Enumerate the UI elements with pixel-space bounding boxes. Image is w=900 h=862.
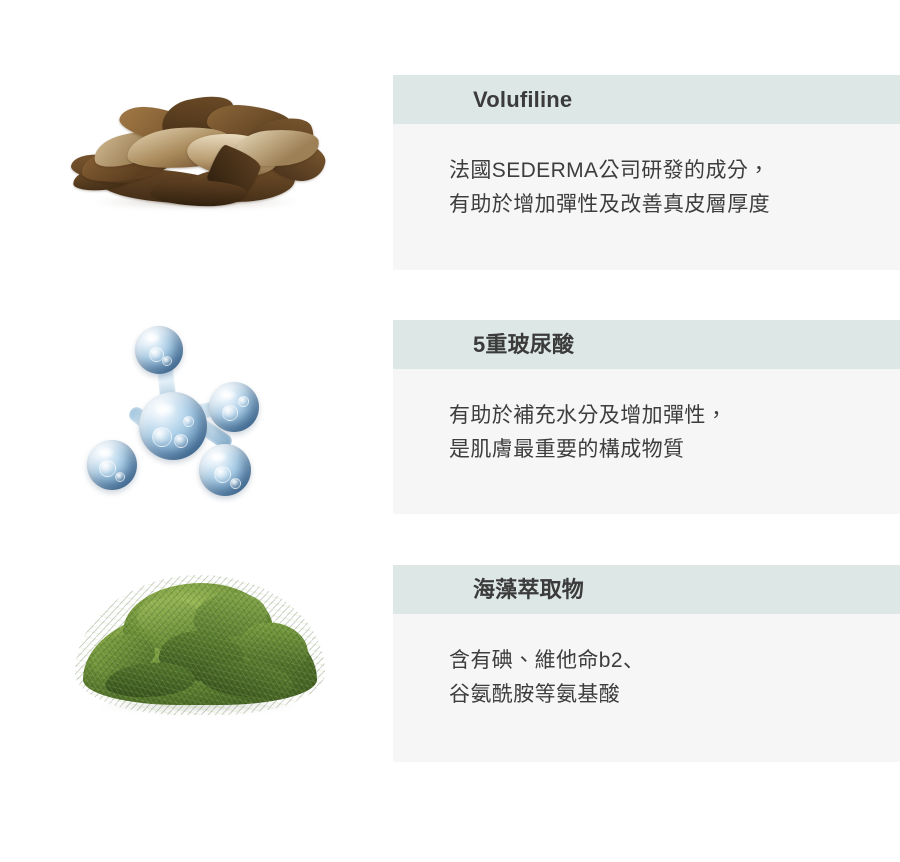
water-molecule-image (81, 322, 267, 510)
description-line: 有助於補充水分及增加彈性， (449, 399, 900, 433)
bubble (183, 416, 194, 427)
description-line: 有助於增加彈性及改善真皮層厚度 (449, 188, 900, 222)
molecule-core-atom (139, 392, 207, 460)
bubble (162, 356, 172, 366)
molecule-atom (87, 440, 137, 490)
bubble (214, 466, 231, 483)
ingredient-title: Volufiline (473, 89, 572, 111)
ingredient-card-seaweed-extract: 海藻萃取物 含有碘、維他命b2、 谷氨酰胺等氨基酸 (0, 565, 900, 762)
description-line: 含有碘、維他命b2、 (449, 644, 900, 678)
molecule-atom (209, 382, 259, 432)
ingredient-title: 5重玻尿酸 (473, 334, 574, 356)
bubble (222, 405, 238, 421)
description-line: 法國SEDERMA公司研發的成分， (449, 154, 900, 188)
description-line: 是肌膚最重要的構成物質 (449, 433, 900, 467)
bubble (152, 427, 172, 447)
bubble (99, 460, 116, 477)
ingredient-description: 有助於補充水分及增加彈性， 是肌膚最重要的構成物質 (393, 369, 900, 467)
ingredient-panel: 海藻萃取物 含有碘、維他命b2、 谷氨酰胺等氨基酸 (393, 565, 900, 762)
bark-chips-pile-image (67, 82, 327, 212)
bubble (238, 396, 249, 407)
ingredient-image-hyaluronic-acid (0, 320, 393, 514)
ingredient-card-volufiline: Volufiline 法國SEDERMA公司研發的成分， 有助於增加彈性及改善真… (0, 75, 900, 270)
ingredient-panel: 5重玻尿酸 有助於補充水分及增加彈性， 是肌膚最重要的構成物質 (393, 320, 900, 514)
ingredient-image-seaweed-extract (0, 565, 393, 762)
ingredient-list-page: Volufiline 法國SEDERMA公司研發的成分， 有助於增加彈性及改善真… (0, 0, 900, 862)
ingredient-description: 含有碘、維他命b2、 谷氨酰胺等氨基酸 (393, 614, 900, 712)
bubble (115, 472, 125, 482)
bubble (174, 434, 188, 448)
ingredient-title: 海藻萃取物 (473, 579, 584, 601)
description-line: 谷氨酰胺等氨基酸 (449, 678, 900, 712)
ingredient-description: 法國SEDERMA公司研發的成分， 有助於增加彈性及改善真皮層厚度 (393, 124, 900, 222)
molecule-atom (199, 444, 251, 496)
molecule-atom (135, 326, 183, 374)
ingredient-card-hyaluronic-acid: 5重玻尿酸 有助於補充水分及增加彈性， 是肌膚最重要的構成物質 (0, 320, 900, 514)
ingredient-panel: Volufiline 法國SEDERMA公司研發的成分， 有助於增加彈性及改善真… (393, 75, 900, 270)
ingredient-image-volufiline (0, 75, 393, 270)
ingredient-header: 5重玻尿酸 (393, 320, 900, 369)
ingredient-header: Volufiline (393, 75, 900, 124)
seaweed-mound-image (75, 575, 325, 715)
ingredient-header: 海藻萃取物 (393, 565, 900, 614)
bubble (230, 478, 241, 489)
